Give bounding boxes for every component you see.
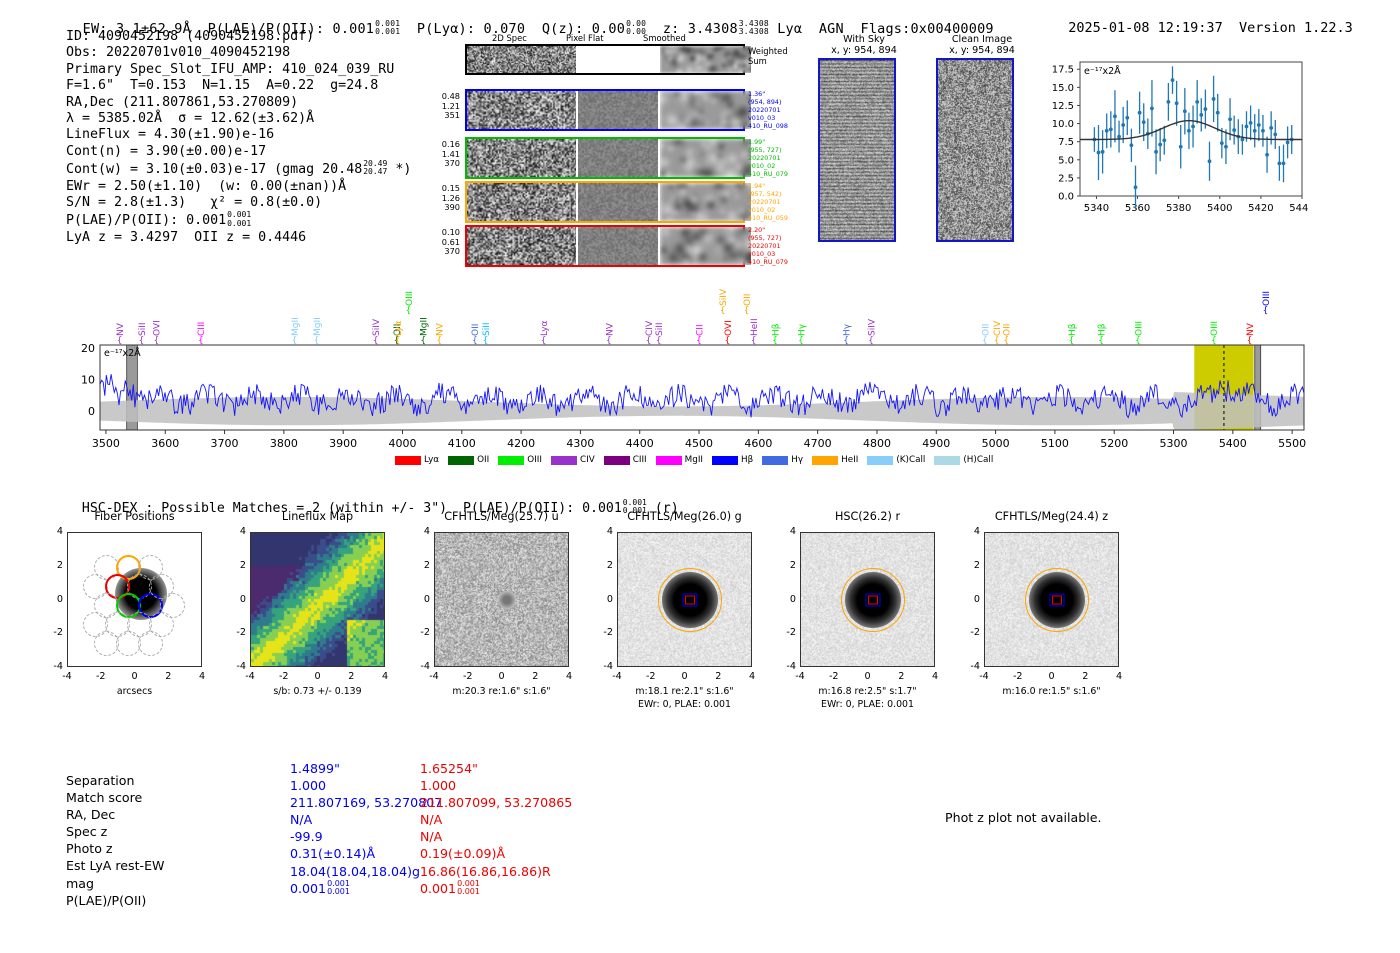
emission-line-bracket: { — [982, 336, 988, 346]
emission-line-label: Hγ — [843, 323, 853, 336]
emission-line-label: SiIV — [719, 288, 729, 306]
emission-line-bracket: { — [751, 336, 757, 346]
cutout-xtick: -2 — [1004, 671, 1032, 682]
cutout-ytick: 2 — [954, 560, 980, 571]
legend-swatch — [867, 456, 893, 465]
spectrum-xtick: 4300 — [566, 437, 594, 450]
legend-entry: Hβ — [712, 456, 753, 466]
cutout-ytick: 4 — [220, 526, 246, 537]
cutout-ytick: 2 — [587, 560, 613, 571]
emission-line-label: OIII — [1210, 321, 1220, 336]
emission-line-label: Lyα — [540, 320, 550, 336]
spectrum-xtick: 3900 — [329, 437, 357, 450]
match-table-value: Est LyA rest-EW — [66, 858, 165, 873]
cutout-xtick: 2 — [521, 671, 549, 682]
legend-entry: Lyα — [395, 456, 439, 466]
cutout-xtick: 0 — [671, 671, 699, 682]
emission-line-bracket: { — [656, 336, 662, 346]
cutout-xtick: -2 — [270, 671, 298, 682]
match-table-cell: 0.0010.0010.001 — [420, 880, 572, 897]
cutout-image-bright — [800, 532, 935, 667]
spectrum-xtick: 4500 — [685, 437, 713, 450]
cutout-ytick: 2 — [37, 560, 63, 571]
emission-line-label: Hγ — [797, 323, 807, 336]
match-table-value: RA, Dec — [66, 807, 115, 822]
emission-line-bracket: { — [606, 336, 612, 346]
match-table-cell: Spec z — [66, 823, 165, 840]
emission-line-label: MgII — [420, 317, 430, 336]
cutout-caption-secondary: EWr: 0, PLAE: 0.001 — [591, 699, 778, 710]
match-table-cell: 1.65254" — [420, 760, 572, 777]
fiber-circle — [149, 612, 174, 637]
match-table-bounds: 0.0010.001 — [457, 880, 480, 896]
match-table-value: 211.807099, 53.270865 — [420, 795, 572, 810]
cutout-ytick: -2 — [770, 627, 796, 638]
cutout-ytick: 0 — [954, 594, 980, 605]
emission-line-bracket: { — [696, 336, 702, 346]
cutout-ytick: 0 — [770, 594, 796, 605]
emission-line-bracket: { — [1003, 336, 1009, 346]
spectrum-xtick: 4700 — [804, 437, 832, 450]
source-blob — [498, 591, 516, 609]
match-table-cell: 211.807099, 53.270865 — [420, 794, 572, 811]
cutout-image-bright — [984, 532, 1119, 667]
lineflux-heatmap — [251, 533, 385, 667]
spectrum-xtick: 3600 — [151, 437, 179, 450]
legend-entry: OIII — [498, 456, 542, 466]
emission-line-label: NV — [436, 322, 446, 336]
cutout-title: Lineflux Map — [230, 510, 405, 523]
spectrum-xtick: 3800 — [270, 437, 298, 450]
legend-label: CIII — [633, 455, 647, 465]
emission-line-legend: LyαOIIOIIICIVCIIIMgIIHβHγHeII(K)Call(H)C… — [395, 455, 1002, 466]
emission-line-bracket: { — [720, 306, 726, 316]
legend-entry: MgII — [656, 456, 703, 466]
match-table-value: 0.31(±0.14)Å — [290, 846, 375, 861]
cutout-xtick: 4 — [555, 671, 583, 682]
full-spectrum-plot: 0102035003600370038003900400041004200430… — [0, 0, 1400, 470]
cutout-xtick: -4 — [786, 671, 814, 682]
cutout-image-bright — [617, 532, 752, 667]
emission-line-bracket: { — [1247, 336, 1253, 346]
emission-line-label: Hβ — [1098, 323, 1108, 336]
legend-swatch — [712, 456, 738, 465]
legend-entry: (H)Call — [934, 456, 993, 466]
match-table-value: Match score — [66, 790, 142, 805]
emission-line-bracket: { — [772, 336, 778, 346]
emission-line-label: CIV — [993, 320, 1003, 336]
cutout-xtick: 4 — [188, 671, 216, 682]
match-table-value: 0.001 — [290, 881, 326, 896]
spectrum-xtick: 4000 — [388, 437, 416, 450]
legend-label: Hβ — [741, 455, 753, 465]
cutout-xtick: -4 — [603, 671, 631, 682]
emission-line-bracket: { — [436, 336, 442, 346]
match-table-value: 1.000 — [290, 778, 326, 793]
emission-line-label: MgII — [291, 317, 301, 336]
emission-line-label: OII — [743, 294, 753, 306]
emission-line-bracket: { — [1098, 336, 1104, 346]
cutout-ytick: 2 — [404, 560, 430, 571]
match-table-value: N/A — [420, 829, 442, 844]
cutout-ytick: 4 — [404, 526, 430, 537]
emission-line-bracket: { — [472, 336, 478, 346]
spectrum-xtick: 5000 — [982, 437, 1010, 450]
emission-line-bracket: { — [646, 336, 652, 346]
emission-line-bracket: { — [994, 336, 1000, 346]
match-table-column-key: SeparationMatch scoreRA, DecSpec zPhoto … — [66, 772, 165, 909]
cutout-title: HSC(26.2) r — [780, 510, 955, 523]
cutout-caption: m:16.8 re:2.5" s:1.7" — [774, 686, 961, 697]
spectrum-unit-label: e⁻¹⁷x2Å — [104, 347, 141, 359]
cutout-xtick: -4 — [420, 671, 448, 682]
emission-line-label: Hβ — [771, 323, 781, 336]
match-table-cell: 1.000 — [420, 777, 572, 794]
cutout-ytick: 2 — [220, 560, 246, 571]
cutout-ytick: 4 — [37, 526, 63, 537]
cutout-caption-secondary: EWr: 0, PLAE: 0.001 — [774, 699, 961, 710]
match-table-value: N/A — [290, 812, 312, 827]
emission-line-bracket: { — [395, 336, 401, 346]
match-table-cell: 16.86(16.86,16.86)R — [420, 863, 572, 880]
emission-line-label: SiII — [138, 322, 148, 336]
emission-line-label: NV — [116, 322, 126, 336]
legend-swatch — [395, 456, 421, 465]
cutout-xtick: 2 — [337, 671, 365, 682]
emission-line-label: CIII — [197, 322, 207, 336]
cutout-xtick: 2 — [1071, 671, 1099, 682]
legend-swatch — [551, 456, 577, 465]
spectrum-xtick: 3700 — [211, 437, 239, 450]
full-spectrum-svg: 0102035003600370038003900400041004200430… — [0, 0, 1400, 470]
cutout-title: CFHTLS/Meg(24.4) z — [964, 510, 1139, 523]
cutout-ytick: 0 — [404, 594, 430, 605]
cutout-ytick: -2 — [954, 627, 980, 638]
emission-line-bracket: { — [292, 336, 298, 346]
match-table-bounds: 0.0010.001 — [327, 880, 350, 896]
match-table-column-red: 1.65254"1.000211.807099, 53.270865N/AN/A… — [420, 760, 572, 897]
match-table-cell: mag — [66, 875, 165, 892]
cutout-ytick: 0 — [37, 594, 63, 605]
cutout-ytick: 4 — [770, 526, 796, 537]
cutout-ytick: 0 — [587, 594, 613, 605]
spectrum-ytick: 20 — [81, 342, 95, 355]
emission-line-label: OII — [1003, 324, 1013, 336]
emission-line-label: OII — [981, 324, 991, 336]
cutout-xtick: 4 — [1105, 671, 1133, 682]
match-table-cell: Separation — [66, 772, 165, 789]
spectrum-xtick: 3500 — [92, 437, 120, 450]
cutout-caption: arcsecs — [41, 686, 228, 697]
cutout-xtick: -2 — [637, 671, 665, 682]
legend-label: Hγ — [791, 455, 803, 465]
legend-label: Lyα — [424, 455, 439, 465]
photz-note: Phot z plot not available. — [945, 810, 1101, 825]
match-table-cell: Photo z — [66, 840, 165, 857]
match-marker-square — [685, 595, 695, 604]
emission-line-label: SiIV — [867, 318, 877, 336]
emission-line-label: Hβ — [1068, 323, 1078, 336]
cutout-title: CFHTLS/Meg(25.7) u — [414, 510, 589, 523]
legend-swatch — [604, 456, 630, 465]
legend-label: OIII — [527, 455, 542, 465]
match-table-value: -99.9 — [290, 829, 323, 844]
match-table-value: P(LAE)/P(OII) — [66, 893, 146, 908]
spectrum-xtick: 5300 — [1160, 437, 1188, 450]
match-table-value: 0.19(±0.09)Å — [420, 846, 505, 861]
match-table-cell: RA, Dec — [66, 806, 165, 823]
cutout-xtick: -2 — [820, 671, 848, 682]
spectrum-xtick: 5200 — [1100, 437, 1128, 450]
cutout-xtick: 0 — [304, 671, 332, 682]
cutout-ytick: 2 — [770, 560, 796, 571]
cutout-xtick: -4 — [236, 671, 264, 682]
legend-label: (K)Call — [896, 455, 925, 465]
legend-label: CIV — [580, 455, 595, 465]
legend-entry: HeII — [812, 456, 858, 466]
cutout-xtick: 0 — [854, 671, 882, 682]
legend-label: OII — [477, 455, 489, 465]
match-table-value: 1.000 — [420, 778, 456, 793]
cutout-title: Fiber Positions — [47, 510, 222, 523]
emission-line-label: SiII — [482, 322, 492, 336]
emission-line-bracket: { — [744, 306, 750, 316]
legend-swatch — [762, 456, 788, 465]
legend-label: MgII — [685, 455, 703, 465]
cutout-ytick: -2 — [37, 627, 63, 638]
cutout-ytick: -2 — [404, 627, 430, 638]
match-table-value: mag — [66, 876, 94, 891]
match-table-value: 18.04(18.04,18.04)g — [290, 864, 420, 879]
cutout-caption: m:20.3 re:1.6" s:1.6" — [408, 686, 595, 697]
cutout-xtick: 4 — [371, 671, 399, 682]
legend-label: HeII — [841, 455, 858, 465]
cutout-title: CFHTLS/Meg(26.0) g — [597, 510, 772, 523]
cutout-ytick: 0 — [220, 594, 246, 605]
cutout-xtick: -4 — [53, 671, 81, 682]
match-table-cell: Est LyA rest-EW — [66, 857, 165, 874]
emission-line-label: OIII — [405, 291, 415, 306]
legend-entry: (K)Call — [867, 456, 925, 466]
legend-entry: OII — [448, 456, 489, 466]
cutout-xtick: 0 — [1038, 671, 1066, 682]
spectrum-xtick: 5100 — [1041, 437, 1069, 450]
spectrum-ytick: 10 — [81, 374, 95, 387]
cutout-ytick: 4 — [587, 526, 613, 537]
emission-line-label: OII — [471, 324, 481, 336]
emission-line-label: CIV — [645, 320, 655, 336]
emission-line-bracket: { — [868, 336, 874, 346]
match-table-cell: P(LAE)/P(OII) — [66, 892, 165, 909]
match-table-cell: 0.19(±0.09)Å — [420, 845, 572, 862]
emission-line-bracket: { — [406, 306, 412, 316]
cutout-caption: m:18.1 re:2.1" s:1.6" — [591, 686, 778, 697]
match-table-value: 1.65254" — [420, 761, 478, 776]
legend-swatch — [448, 456, 474, 465]
emission-line-label: MgII — [313, 317, 323, 336]
legend-entry: Hγ — [762, 456, 803, 466]
match-marker-square — [868, 595, 878, 604]
emission-line-bracket: { — [198, 336, 204, 346]
spectrum-xtick: 5400 — [1219, 437, 1247, 450]
spectrum-xtick: 4600 — [744, 437, 772, 450]
match-table-value: 16.86(16.86,16.86)R — [420, 864, 551, 879]
cutout-xtick: -2 — [87, 671, 115, 682]
emission-line-label: OIII — [1134, 321, 1144, 336]
cutout-xtick: 0 — [488, 671, 516, 682]
cutout-caption: m:16.0 re:1.5" s:1.6" — [958, 686, 1145, 697]
match-marker-square — [1052, 595, 1062, 604]
emission-line-bracket: { — [314, 336, 320, 346]
cutout-caption: s/b: 0.73 +/- 0.139 — [224, 686, 411, 697]
match-table-value: N/A — [420, 812, 442, 827]
emission-line-label: OVI — [724, 320, 734, 336]
emission-line-label: SiII — [655, 322, 665, 336]
match-table-cell: N/A — [420, 828, 572, 845]
emission-line-label: OIII — [1262, 291, 1272, 306]
emission-line-bracket: { — [1069, 336, 1075, 346]
emission-line-bracket: { — [373, 336, 379, 346]
match-table-cell: N/A — [420, 811, 572, 828]
match-table-value: Separation — [66, 773, 134, 788]
emission-line-bracket: { — [139, 336, 145, 346]
emission-line-bracket: { — [420, 336, 426, 346]
legend-swatch — [656, 456, 682, 465]
match-table-value: Photo z — [66, 841, 113, 856]
legend-swatch — [498, 456, 524, 465]
emission-line-label: CII — [695, 324, 705, 336]
legend-entry: CIV — [551, 456, 595, 466]
spectrum-xtick: 5500 — [1278, 437, 1306, 450]
cutout-xtick: 4 — [921, 671, 949, 682]
match-table-value: 0.001 — [420, 881, 456, 896]
cutout-image-lineflux — [250, 532, 385, 667]
cutout-xtick: 2 — [154, 671, 182, 682]
emission-line-bracket: { — [1211, 336, 1217, 346]
emission-line-bracket: { — [843, 336, 849, 346]
emission-line-bracket: { — [483, 336, 489, 346]
emission-line-label: SiIV — [372, 318, 382, 336]
emission-line-label: Lyα — [394, 320, 404, 336]
cutout-xtick: 2 — [704, 671, 732, 682]
emission-line-label: OVI — [153, 320, 163, 336]
spectrum-xtick: 4900 — [922, 437, 950, 450]
cutout-image-faint — [434, 532, 569, 667]
emission-line-label: NV — [1246, 322, 1256, 336]
legend-entry: CIII — [604, 456, 647, 466]
match-table-value: 1.4899" — [290, 761, 340, 776]
cutout-ytick: -2 — [220, 627, 246, 638]
cutout-xtick: 4 — [738, 671, 766, 682]
cutout-image-fibers — [67, 532, 202, 667]
emission-line-bracket: { — [117, 336, 123, 346]
emission-line-bracket: { — [541, 336, 547, 346]
emission-line-bracket: { — [1135, 336, 1141, 346]
emission-line-label: HeII — [750, 318, 760, 336]
legend-label: (H)Call — [963, 455, 993, 465]
emission-line-bracket: { — [798, 336, 804, 346]
match-table-value: Spec z — [66, 824, 107, 839]
cutout-xtick: -4 — [970, 671, 998, 682]
spectrum-xtick: 4200 — [507, 437, 535, 450]
cutout-xtick: 0 — [121, 671, 149, 682]
spectrum-xtick: 4400 — [626, 437, 654, 450]
cutout-ytick: -2 — [587, 627, 613, 638]
cutout-panel-row: Fiber PositionsNE+420-2-4-4-2024arcsecsL… — [0, 510, 1400, 740]
spectrum-xtick: 4800 — [863, 437, 891, 450]
legend-swatch — [934, 456, 960, 465]
cutout-ytick: 4 — [954, 526, 980, 537]
emission-line-bracket: { — [725, 336, 731, 346]
cutout-xtick: 2 — [887, 671, 915, 682]
cutout-xtick: -2 — [454, 671, 482, 682]
spectrum-ytick: 0 — [88, 405, 95, 418]
emission-line-label: NV — [605, 322, 615, 336]
match-table-cell: Match score — [66, 789, 165, 806]
emission-line-bracket: { — [153, 336, 159, 346]
emission-line-bracket: { — [1263, 306, 1269, 316]
legend-swatch — [812, 456, 838, 465]
spectrum-xtick: 4100 — [448, 437, 476, 450]
